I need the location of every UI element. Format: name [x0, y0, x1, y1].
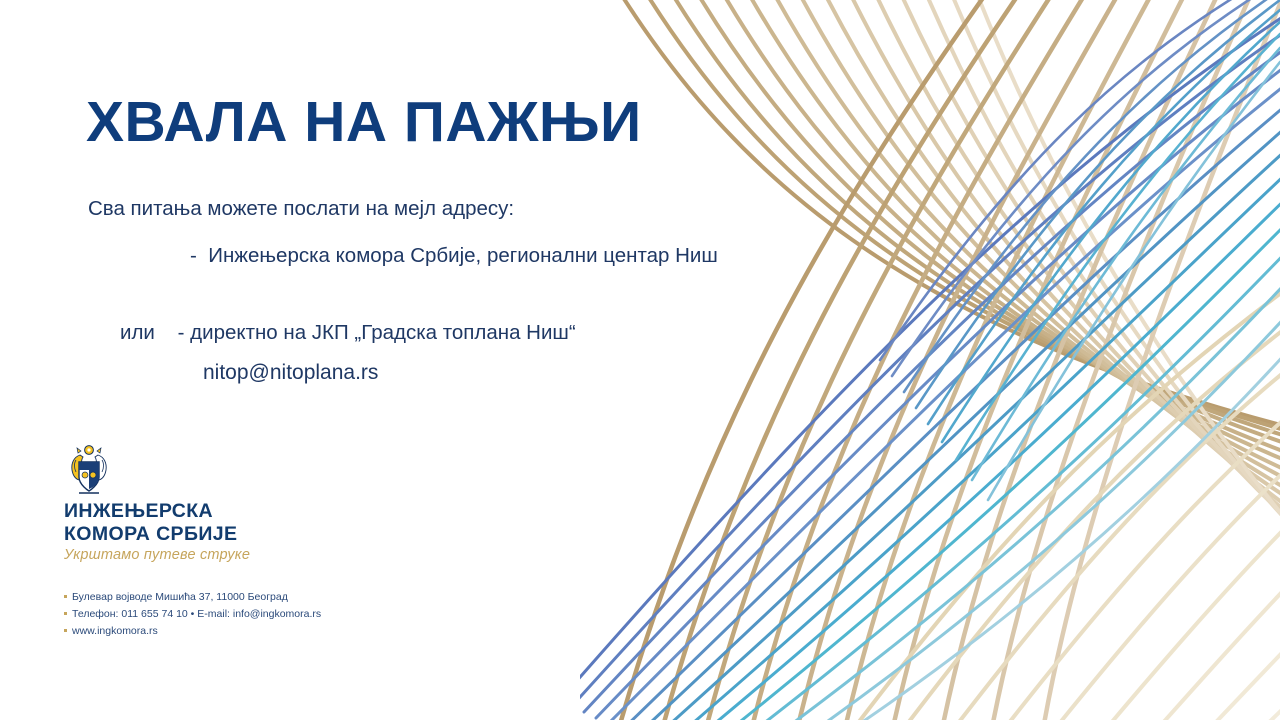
contact-branch-text: - Инжењерска комора Србије, регионални ц… [190, 243, 718, 270]
email-address-text: nitop@nitoplana.rs [203, 359, 378, 386]
page-title: ХВАЛА НА ПАЖЊИ [86, 92, 642, 154]
ribbon-group-tan-b [610, 0, 1280, 720]
ribbon-group-blue [580, 0, 1280, 720]
ribbon-group-tan-a [600, 0, 1280, 636]
ribbon-group-blue-upper [880, 0, 1280, 500]
bullet-icon [64, 612, 67, 615]
footer-address: Булевар војводе Мишића 37, 11000 Београд [72, 591, 288, 603]
coat-of-arms-icon [66, 444, 112, 496]
presentation-slide: ХВАЛА НА ПАЖЊИ Сва питања можете послати… [0, 0, 1280, 720]
footer-website: www.ingkomora.rs [72, 625, 158, 637]
bullet-icon [64, 595, 67, 598]
alternative-contact-text: или - директно на ЈКП „Градска топлана Н… [120, 320, 576, 347]
footer-address-row: Булевар војводе Мишића 37, 11000 Београд [64, 589, 321, 606]
footer-contact-info: Булевар војводе Мишића 37, 11000 Београд… [64, 589, 321, 640]
logo-organization-name: ИНЖЕЊЕРСКА КОМОРА СРБИЈЕ [64, 500, 324, 545]
footer-phone-email: Телефон: 011 655 74 10 • E-mail: info@in… [72, 608, 321, 620]
organization-logo: ИНЖЕЊЕРСКА КОМОРА СРБИЈЕ Укрштамо путеве… [64, 444, 324, 563]
footer-website-row: www.ingkomora.rs [64, 623, 321, 640]
woven-ribbon-graphic [580, 0, 1280, 720]
logo-tagline: Укрштамо путеве струке [64, 547, 324, 563]
intro-text: Сва питања можете послати на мејл адресу… [88, 196, 514, 223]
bullet-icon [64, 629, 67, 632]
ribbon-group-pale-gold [830, 250, 1280, 720]
footer-phone-email-row: Телефон: 011 655 74 10 • E-mail: info@in… [64, 606, 321, 623]
